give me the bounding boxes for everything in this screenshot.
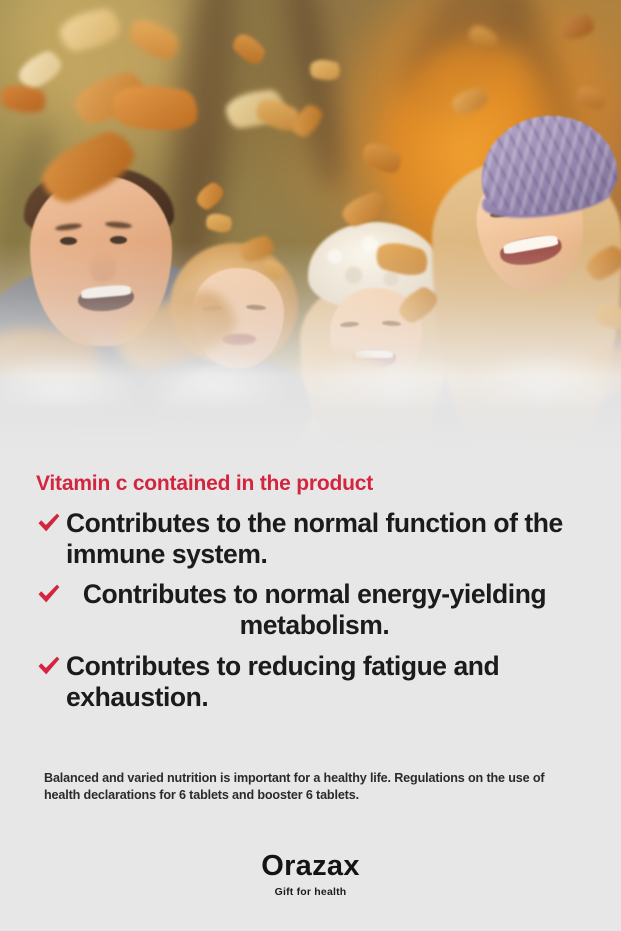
- content-panel: Vitamin c contained in the product Contr…: [0, 452, 621, 931]
- disclaimer-text: Balanced and varied nutrition is importa…: [44, 770, 578, 805]
- check-icon: [36, 511, 62, 537]
- claim-text: Contributes to the normal function of th…: [0, 508, 621, 570]
- page-title: Vitamin c contained in the product: [36, 472, 373, 496]
- check-icon: [36, 582, 62, 608]
- brand-lockup: Orazax Gift for health: [0, 852, 621, 898]
- brand-name: Orazax: [0, 852, 621, 881]
- product-poster: Vitamin c contained in the product Contr…: [0, 0, 621, 931]
- claim-item: Contributes to reducing fatigue and exha…: [0, 651, 621, 713]
- claim-item: Contributes to the normal function of th…: [0, 508, 621, 570]
- claim-text: Contributes to reducing fatigue and exha…: [0, 651, 621, 713]
- claim-item: Contributes to normal energy-yielding me…: [0, 579, 621, 641]
- hero-photo: [0, 0, 621, 452]
- photo-bottom-fade: [0, 242, 621, 452]
- claim-text: Contributes to normal energy-yielding me…: [0, 579, 621, 641]
- claims-list: Contributes to the normal function of th…: [0, 508, 621, 722]
- check-icon: [36, 654, 62, 680]
- brand-tagline: Gift for health: [0, 887, 621, 898]
